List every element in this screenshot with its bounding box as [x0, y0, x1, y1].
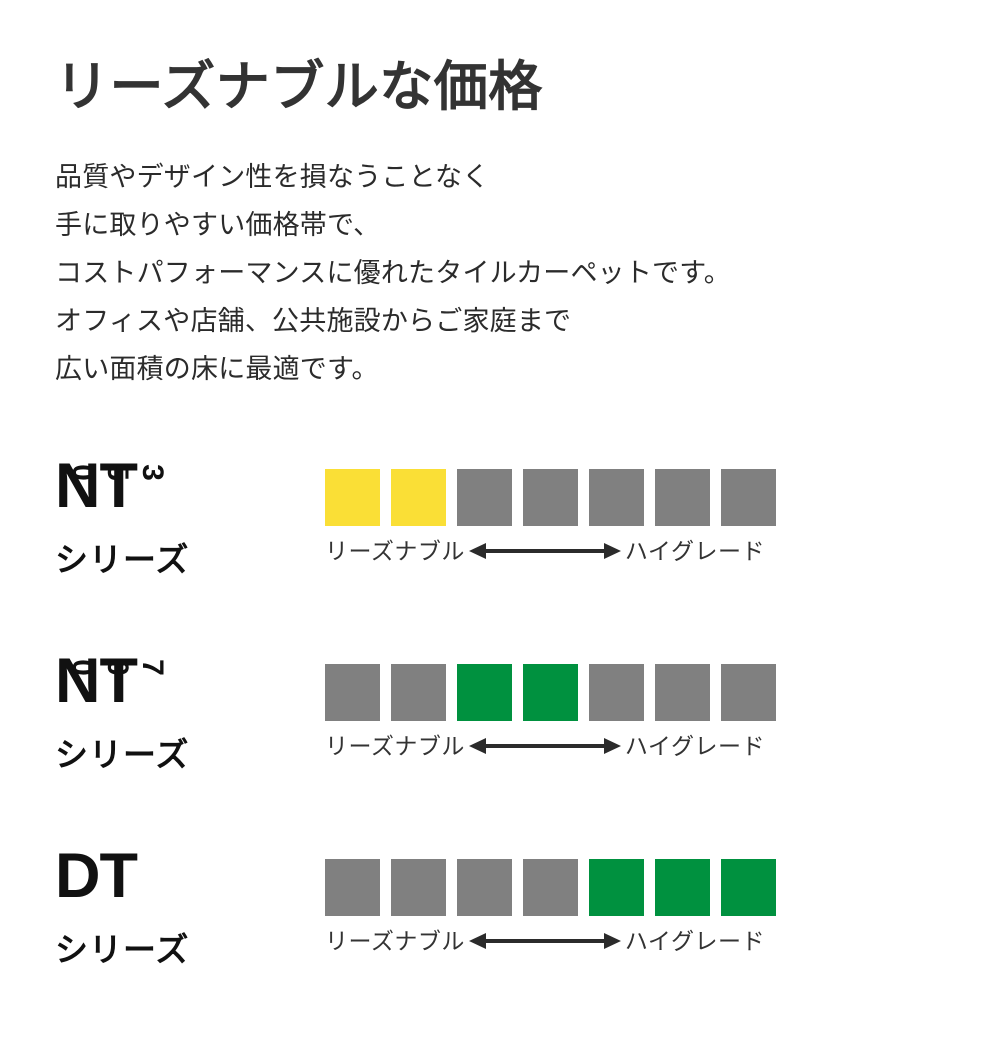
swatch-2 — [391, 664, 446, 721]
swatch-3 — [457, 469, 512, 526]
axis-label-left: リーズナブル — [325, 731, 465, 761]
series-code: DT — [55, 845, 137, 907]
swatch-5 — [589, 859, 644, 916]
series-comparison-list: NT 350 シリーズ リーズナブル — [0, 455, 1000, 1040]
series-label-nt350: NT 350 シリーズ — [55, 455, 295, 576]
series-row: NT 350 シリーズ リーズナブル — [0, 455, 1000, 650]
swatch-6 — [655, 859, 710, 916]
swatch-1 — [325, 469, 380, 526]
description-paragraph: 品質やデザイン性を損なうことなく 手に取りやすい価格帯で、 コストパフォーマンス… — [55, 153, 955, 393]
series-suffix: シリーズ — [55, 543, 295, 576]
series-name-line: DT — [55, 845, 295, 915]
swatch-strip — [325, 469, 795, 526]
swatch-3 — [457, 664, 512, 721]
double-headed-arrow-icon — [469, 930, 621, 952]
swatch-strip — [325, 859, 795, 916]
axis-label-right: ハイグレード — [625, 731, 765, 761]
price-grade-scale: リーズナブル ハイグレード — [325, 469, 795, 566]
swatch-5 — [589, 469, 644, 526]
description-line: 広い面積の床に最適です。 — [55, 345, 955, 393]
page-root: リーズナブルな価格 品質やデザイン性を損なうことなく 手に取りやすい価格帯で、 … — [0, 0, 1000, 1000]
series-row: DT シリーズ リーズナブル — [0, 845, 1000, 1040]
description-line: オフィスや店舗、公共施設からご家庭まで — [55, 297, 955, 345]
series-label-nt700: NT 700 シリーズ — [55, 650, 295, 771]
series-name-line: NT 350 — [55, 455, 295, 525]
swatch-1 — [325, 664, 380, 721]
swatch-6 — [655, 664, 710, 721]
swatch-4 — [523, 664, 578, 721]
swatch-7 — [721, 664, 776, 721]
swatch-2 — [391, 469, 446, 526]
double-headed-arrow-icon — [469, 540, 621, 562]
swatch-6 — [655, 469, 710, 526]
scale-axis: リーズナブル ハイグレード — [325, 731, 795, 761]
series-suffix: シリーズ — [55, 933, 295, 966]
scale-axis: リーズナブル ハイグレード — [325, 536, 795, 566]
series-label-dt: DT シリーズ — [55, 845, 295, 966]
axis-label-right: ハイグレード — [625, 926, 765, 956]
axis-label-right: ハイグレード — [625, 536, 765, 566]
description-line: 品質やデザイン性を損なうことなく — [55, 153, 955, 201]
swatch-5 — [589, 664, 644, 721]
description-line: コストパフォーマンスに優れたタイルカーペットです。 — [55, 249, 955, 297]
series-name-line: NT 700 — [55, 650, 295, 720]
price-grade-scale: リーズナブル ハイグレード — [325, 664, 795, 761]
page-title: リーズナブルな価格 — [55, 58, 955, 117]
series-grade-number: 350 — [139, 457, 169, 487]
swatch-1 — [325, 859, 380, 916]
swatch-3 — [457, 859, 512, 916]
description-line: 手に取りやすい価格帯で、 — [55, 201, 955, 249]
swatch-7 — [721, 469, 776, 526]
swatch-4 — [523, 469, 578, 526]
price-grade-scale: リーズナブル ハイグレード — [325, 859, 795, 956]
swatch-7 — [721, 859, 776, 916]
axis-label-left: リーズナブル — [325, 926, 465, 956]
header-block: リーズナブルな価格 品質やデザイン性を損なうことなく 手に取りやすい価格帯で、 … — [55, 58, 955, 393]
swatch-2 — [391, 859, 446, 916]
axis-label-left: リーズナブル — [325, 536, 465, 566]
series-row: NT 700 シリーズ リーズナブル — [0, 650, 1000, 845]
double-headed-arrow-icon — [469, 735, 621, 757]
series-grade-number: 700 — [139, 652, 169, 682]
series-suffix: シリーズ — [55, 738, 295, 771]
swatch-4 — [523, 859, 578, 916]
scale-axis: リーズナブル ハイグレード — [325, 926, 795, 956]
swatch-strip — [325, 664, 795, 721]
